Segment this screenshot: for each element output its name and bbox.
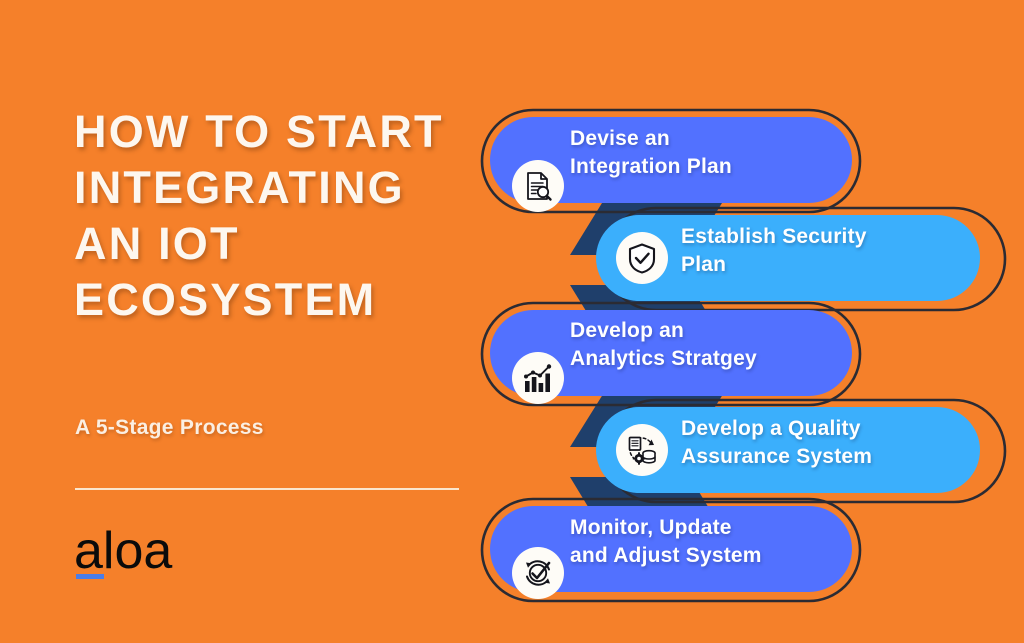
- stage-5-label: Monitor, Update and Adjust System: [570, 514, 840, 570]
- process-diagram: Devise an Integration Plan Establish Sec…: [470, 95, 1015, 625]
- refresh-check-icon: [522, 557, 554, 589]
- stage-1-label: Devise an Integration Plan: [570, 125, 820, 181]
- stage-4-label: Develop a Quality Assurance System: [681, 415, 981, 471]
- document-search-icon: [522, 170, 554, 202]
- stage-5-icon-badge: [512, 547, 564, 599]
- stage-4-icon-badge: [616, 424, 668, 476]
- stage-3-label: Develop an Analytics Stratgey: [570, 317, 835, 373]
- stage-1-icon-badge: [512, 160, 564, 212]
- page-subtitle: A 5-Stage Process: [75, 416, 264, 440]
- svg-text:aloa: aloa: [74, 524, 172, 580]
- stage-2-icon-badge: [616, 232, 668, 284]
- aloa-logo: aloa: [74, 524, 214, 584]
- bar-chart-trend-icon: [522, 362, 554, 394]
- page-title: How To Start Integrating An IoT Ecosyste…: [74, 104, 474, 328]
- database-gear-sync-icon: [626, 434, 658, 466]
- stage-3-icon-badge: [512, 352, 564, 404]
- divider: [75, 488, 459, 490]
- left-panel: How To Start Integrating An IoT Ecosyste…: [74, 104, 474, 584]
- shield-check-icon: [626, 242, 658, 274]
- infographic-canvas: How To Start Integrating An IoT Ecosyste…: [0, 0, 1024, 643]
- stage-2-label: Establish Security Plan: [681, 223, 971, 279]
